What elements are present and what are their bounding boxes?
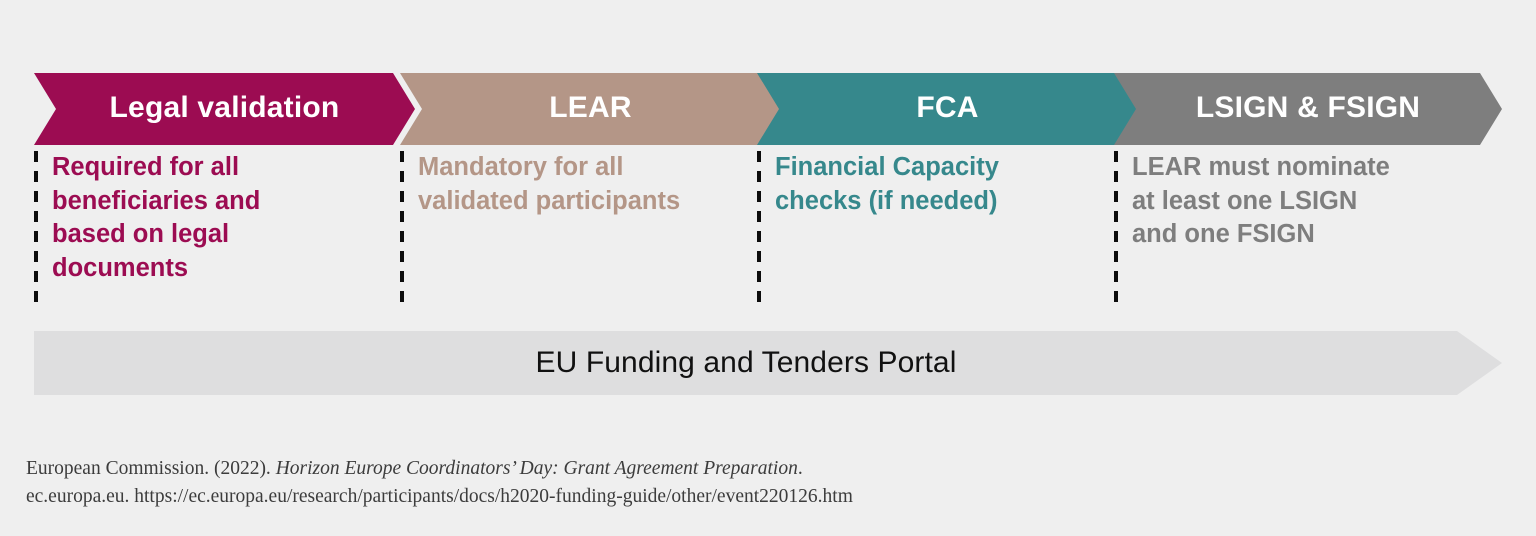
chevron-label-lear: LEAR bbox=[549, 93, 631, 123]
portal-bar: EU Funding and Tenders Portal bbox=[34, 331, 1502, 395]
stage-body-legal-validation: Required for all beneficiaries and based… bbox=[34, 151, 260, 306]
citation: European Commission. (2022). Horizon Eur… bbox=[26, 455, 853, 510]
chevron-legal-validation: Legal validation bbox=[34, 73, 415, 145]
chevron-lear: LEAR bbox=[400, 73, 781, 145]
stage-description-lsign-fsign: LEAR must nominate at least one LSIGN an… bbox=[1118, 151, 1390, 252]
chevron-fca: FCA bbox=[757, 73, 1138, 145]
stage-description-fca: Financial Capacity checks (if needed) bbox=[761, 151, 999, 218]
chevron-lsign-fsign: LSIGN & FSIGN bbox=[1114, 73, 1502, 145]
stage-description-lear: Mandatory for all validated participants bbox=[404, 151, 680, 218]
stage-description-legal-validation: Required for all beneficiaries and based… bbox=[38, 151, 260, 286]
citation-line-2: ec.europa.eu. https://ec.europa.eu/resea… bbox=[26, 483, 853, 511]
stage-body-lear: Mandatory for all validated participants bbox=[400, 151, 680, 306]
citation-line-1: European Commission. (2022). Horizon Eur… bbox=[26, 455, 853, 483]
portal-bar-label: EU Funding and Tenders Portal bbox=[536, 346, 957, 380]
chevron-label-lsign-fsign: LSIGN & FSIGN bbox=[1196, 93, 1420, 123]
stage-body-fca: Financial Capacity checks (if needed) bbox=[757, 151, 999, 306]
citation-source: European Commission. (2022). bbox=[26, 458, 276, 479]
chevron-label-legal-validation: Legal validation bbox=[110, 93, 340, 123]
citation-period: . bbox=[798, 458, 803, 479]
citation-title: Horizon Europe Coordinators’ Day: Grant … bbox=[276, 458, 798, 479]
process-flow-diagram: Legal validation Required for all benefi… bbox=[0, 0, 1536, 320]
chevron-label-fca: FCA bbox=[916, 93, 978, 123]
stage-body-lsign-fsign: LEAR must nominate at least one LSIGN an… bbox=[1114, 151, 1390, 306]
